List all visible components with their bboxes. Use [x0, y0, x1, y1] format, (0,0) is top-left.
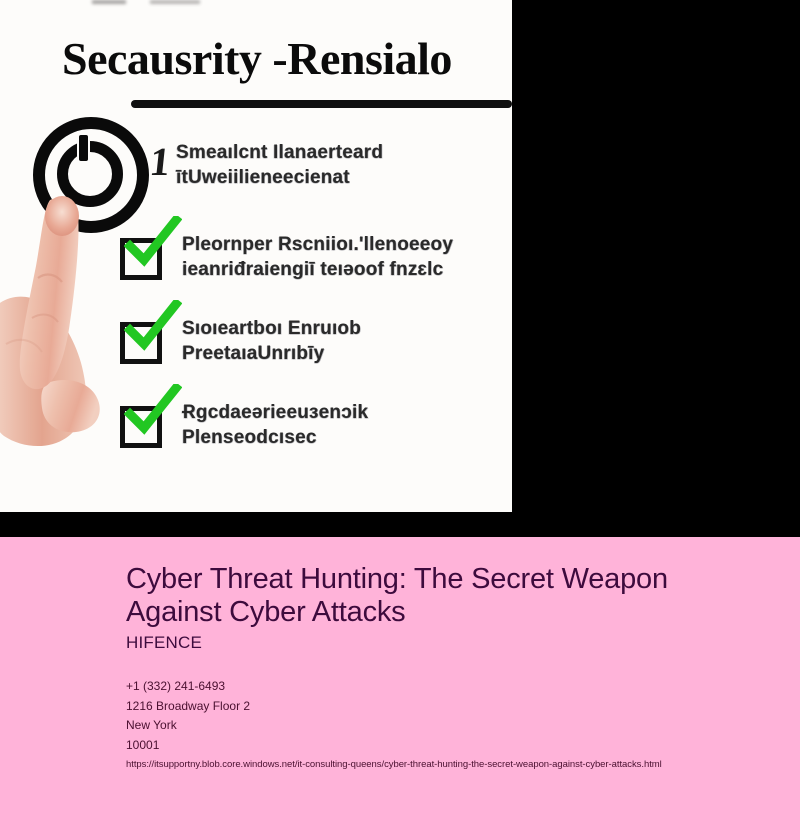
list-item: Ɍɡcdaeərieeuɜenɔik Plenseodcısec — [120, 400, 512, 474]
page-title: Cyber Threat Hunting: The Secret Weapon … — [126, 563, 766, 629]
contact-block: +1 (332) 241-6493 1216 Broadway Floor 2 … — [126, 677, 726, 755]
brand-name: HIFENCE — [126, 633, 202, 653]
contact-street: 1216 Broadway Floor 2 — [126, 697, 726, 717]
list-item-label: Pleornper Rscniioı.'llenoeeoy ieanriđrai… — [182, 232, 512, 282]
list-item: Smeaılcnt Ilanaerteard ītUweiilieneecien… — [150, 140, 512, 214]
info-band: Cyber Threat Hunting: The Secret Weapon … — [0, 537, 800, 840]
illustration-heading: Secausrity -Rensialo — [62, 36, 512, 82]
ring-stem — [79, 135, 88, 161]
source-url[interactable]: https://itsupportny.blob.core.windows.ne… — [126, 759, 662, 771]
pointing-hand — [0, 186, 134, 486]
image-artifact-smudge — [92, 0, 126, 4]
list-item: Sıoıeartboı Enruıob PreetaıaUnrıbīy — [120, 316, 512, 390]
image-artifact-smudge — [150, 0, 200, 4]
media-band: Secausrity -Rensialo 1 Smeaılcnt Ilanaer… — [0, 0, 800, 537]
list-item-label: Smeaılcnt Ilanaerteard ītUweiilieneecien… — [176, 140, 506, 190]
illustration-heading-rule — [131, 100, 512, 108]
contact-city: New York — [126, 716, 726, 736]
contact-zip: 10001 — [126, 736, 726, 756]
article-illustration: Secausrity -Rensialo 1 Smeaılcnt Ilanaer… — [0, 0, 512, 512]
list-item-label: Sıoıeartboı Enruıob PreetaıaUnrıbīy — [182, 316, 512, 366]
list-item-label: Ɍɡcdaeərieeuɜenɔik Plenseodcısec — [182, 400, 512, 450]
list-item: Pleornper Rscniioı.'llenoeeoy ieanriđrai… — [120, 232, 512, 306]
contact-phone[interactable]: +1 (332) 241-6493 — [126, 677, 726, 697]
